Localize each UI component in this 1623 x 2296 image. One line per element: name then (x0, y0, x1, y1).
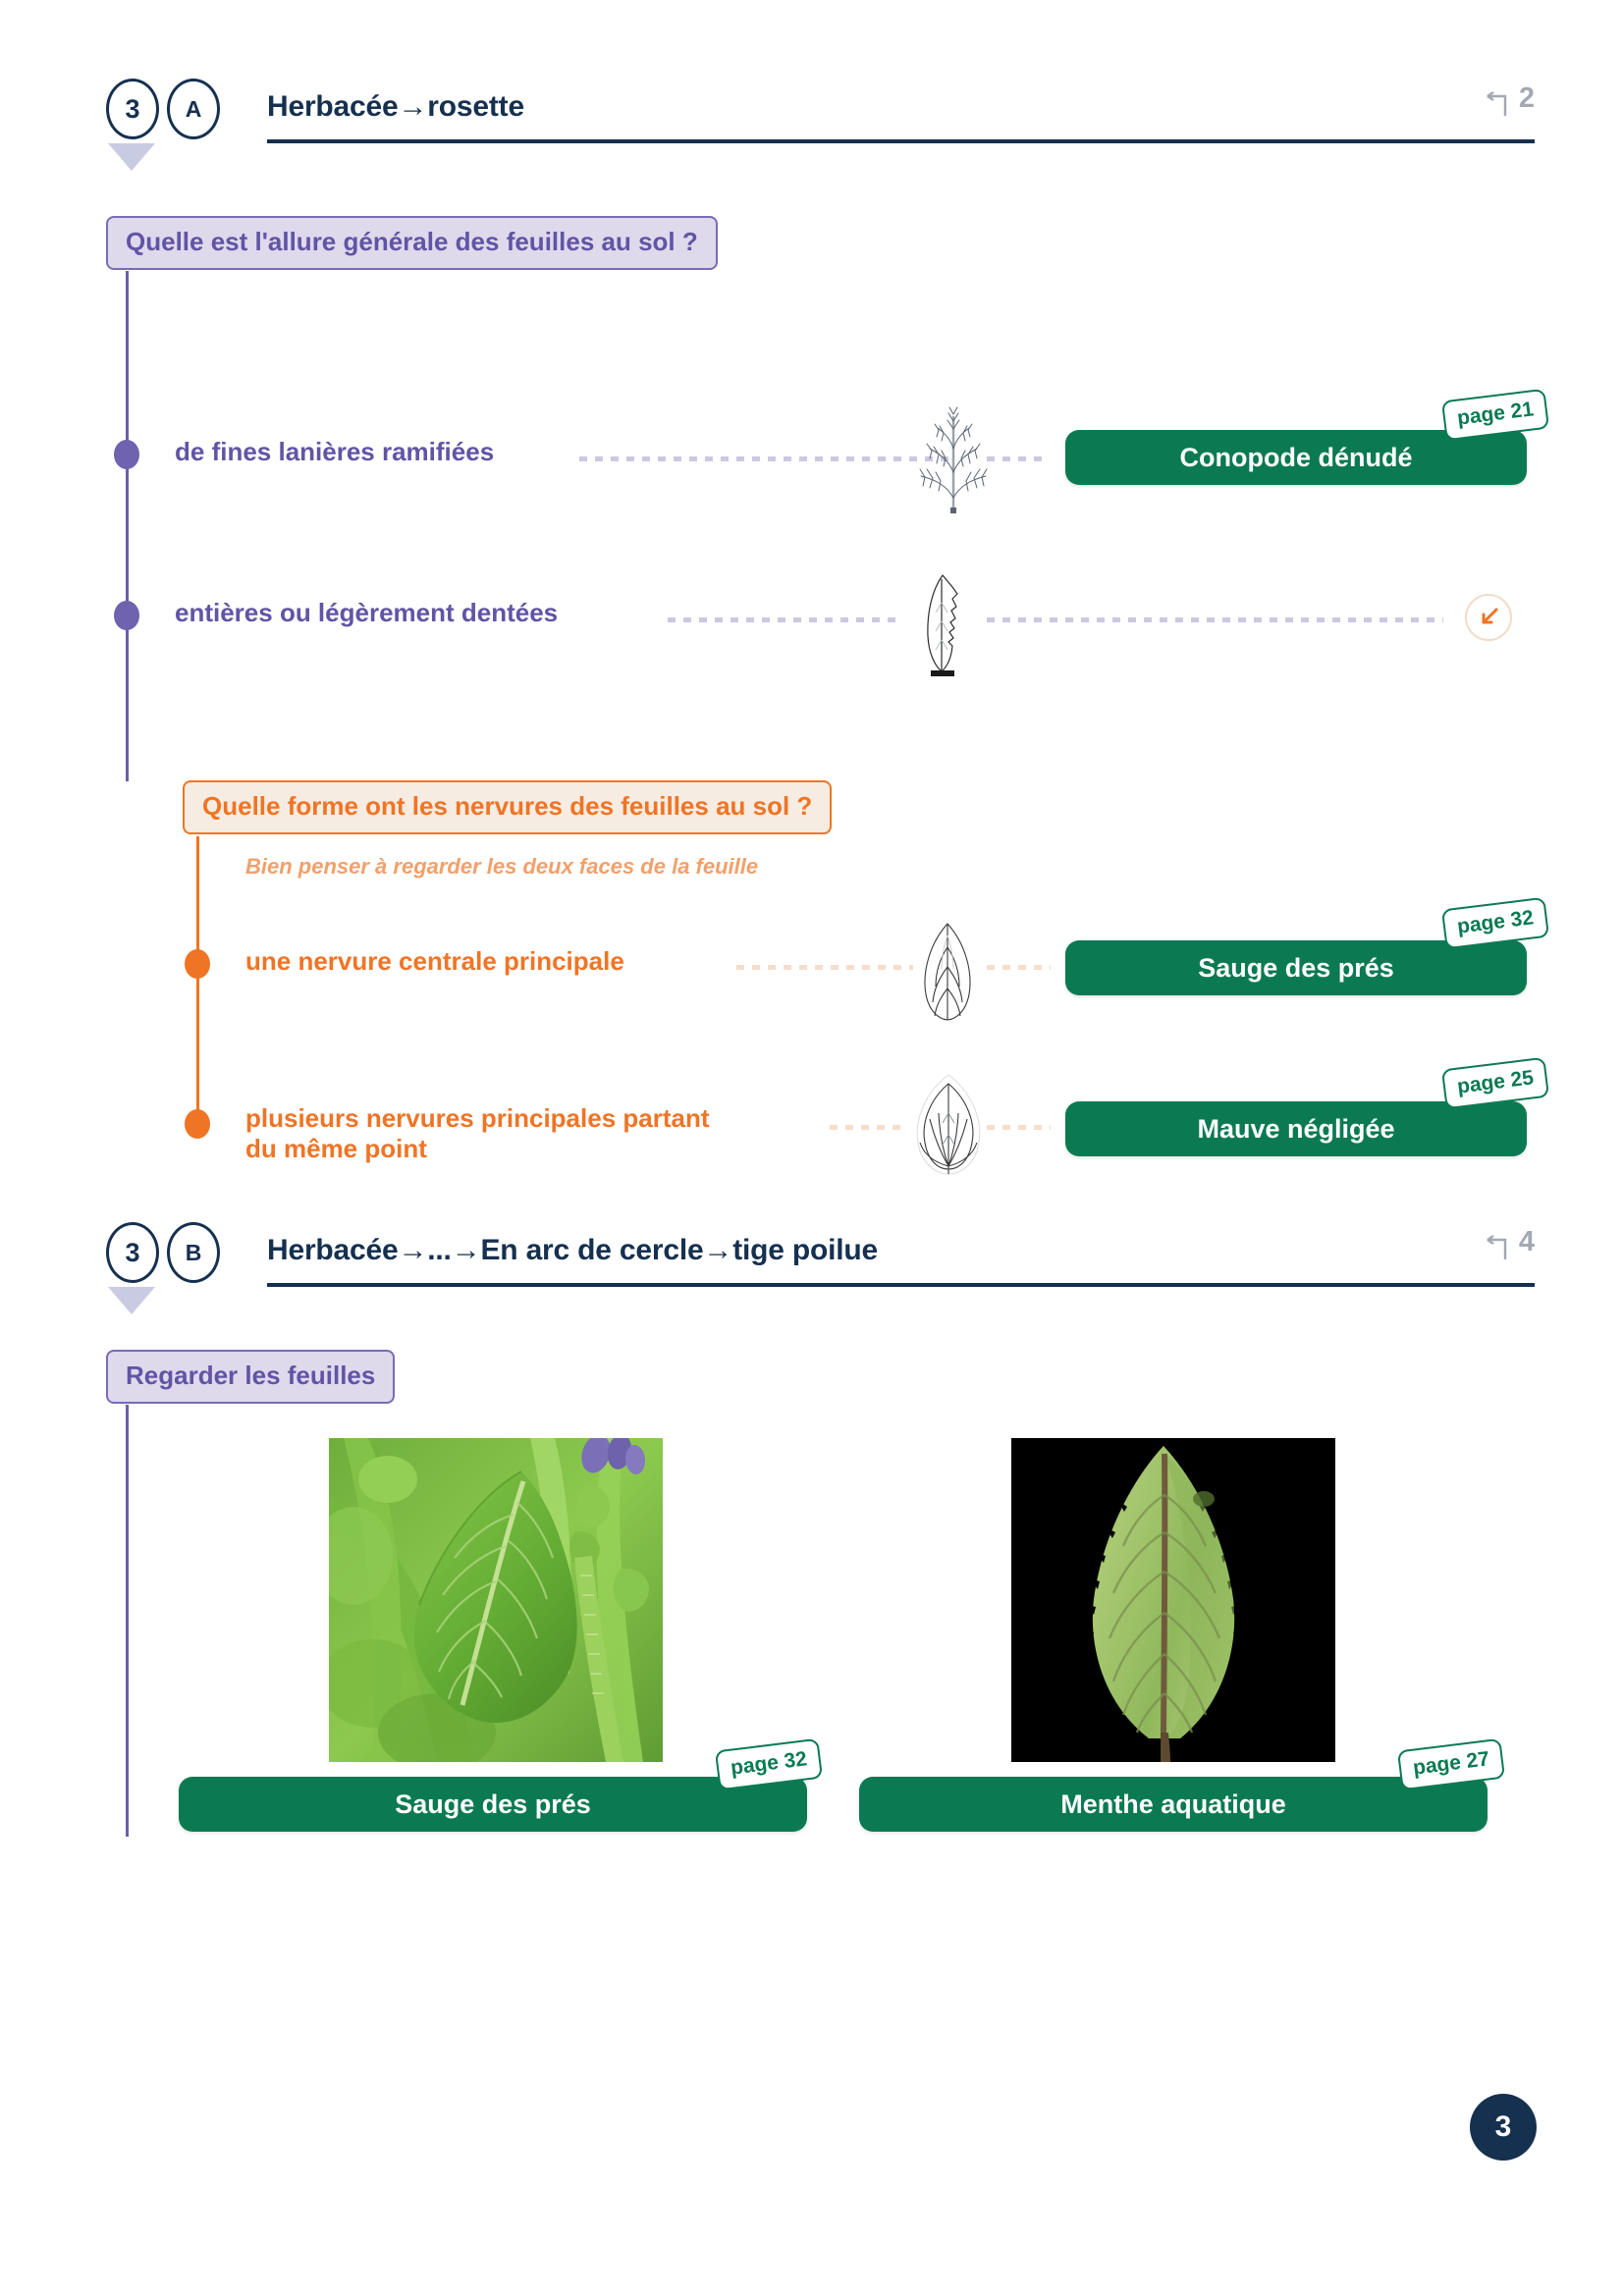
branch-spine-orange (196, 836, 199, 1121)
species-button[interactable]: Sauge des prés (1065, 940, 1527, 995)
leader-dots (579, 456, 952, 461)
answer-bullet[interactable] (185, 1109, 210, 1139)
palmate-vein-leaf-icon (908, 1070, 989, 1185)
answer-label-line1: plusieurs nervures principales partant (245, 1103, 710, 1134)
question-box-vein-shape: Quelle forme ont les nervures des feuill… (183, 780, 832, 834)
back-arrow-icon (1484, 90, 1513, 120)
species-label: Sauge des prés (395, 1789, 591, 1820)
section-number-badge: 3 (106, 79, 159, 139)
section-3a-header: 3 A Herbacée→rosette 2 (106, 79, 1535, 155)
section-3b-header: 3 B Herbacée→...→En arc de cercle→tige p… (106, 1222, 1535, 1299)
section-back-reference[interactable]: 4 (1484, 1228, 1535, 1263)
section-drop-arrow-icon (108, 1287, 155, 1314)
page-number-badge: 3 (1470, 2094, 1537, 2161)
section-letter-badge: B (167, 1222, 220, 1283)
pinnate-vein-leaf-icon (908, 918, 987, 1031)
answer-label: entières ou légèrement dentées (175, 598, 558, 628)
hint-text: Bien penser à regarder les deux faces de… (245, 854, 758, 880)
sauge-des-pres-leaf-photo (329, 1438, 663, 1762)
leader-dots (987, 1125, 1051, 1130)
leader-dots (830, 1125, 903, 1130)
section-3b: 3 B Herbacée→...→En arc de cercle→tige p… (0, 1222, 1623, 1299)
branch-spine-purple (126, 271, 129, 781)
leader-dots (987, 456, 1046, 461)
question-box-leaf-appearance: Quelle est l'allure générale des feuille… (106, 216, 718, 270)
page-tag[interactable]: page 21 (1441, 389, 1549, 442)
species-label: Mauve négligée (1197, 1114, 1394, 1145)
back-reference-number: 2 (1519, 84, 1535, 113)
branch-spine-purple (126, 1405, 129, 1837)
section-rule (267, 139, 1535, 143)
page-tag[interactable]: page 32 (715, 1738, 823, 1791)
leader-dots (987, 617, 1443, 622)
answer-label: de fines lanières ramifiées (175, 437, 494, 467)
page-tag[interactable]: page 25 (1441, 1057, 1549, 1110)
section-drop-arrow-icon (108, 143, 155, 171)
continue-down-circle[interactable] (1465, 594, 1512, 641)
species-button[interactable]: Mauve négligée (1065, 1101, 1527, 1156)
leader-dots (736, 965, 913, 970)
answer-label-line2: du même point (245, 1134, 710, 1164)
species-button[interactable]: Menthe aquatique (859, 1777, 1488, 1832)
branched-rosette-icon (911, 400, 996, 522)
answer-label: plusieurs nervures principales partant d… (245, 1103, 710, 1163)
back-arrow-icon (1484, 1234, 1513, 1263)
species-button[interactable]: Sauge des prés (179, 1777, 807, 1832)
section-back-reference[interactable]: 2 (1484, 84, 1535, 120)
answer-label: une nervure centrale principale (245, 946, 624, 977)
answer-bullet[interactable] (114, 601, 139, 630)
section-rule (267, 1283, 1535, 1287)
section-3a: 3 A Herbacée→rosette 2 Quelle est l'allu… (0, 79, 1623, 155)
section-number-badge: 3 (106, 1222, 159, 1283)
arrow-down-left-icon (1476, 605, 1501, 630)
answer-bullet[interactable] (114, 440, 139, 469)
section-title: Herbacée→rosette (267, 90, 524, 124)
species-label: Sauge des prés (1198, 953, 1394, 984)
toothed-narrow-leaf-icon (903, 567, 982, 688)
leader-dots (987, 965, 1051, 970)
page-tag[interactable]: page 32 (1441, 897, 1549, 950)
back-reference-number: 4 (1519, 1228, 1535, 1256)
answer-bullet[interactable] (185, 949, 210, 979)
section-letter-badge: A (167, 79, 220, 139)
question-box-look-at-leaves: Regarder les feuilles (106, 1350, 395, 1404)
page-tag[interactable]: page 27 (1397, 1738, 1505, 1791)
section-title: Herbacée→...→En arc de cercle→tige poilu… (267, 1234, 878, 1267)
leader-dots (668, 617, 903, 622)
species-label: Conopode dénudé (1180, 443, 1413, 473)
menthe-aquatique-leaf-photo (1011, 1438, 1335, 1762)
species-label: Menthe aquatique (1060, 1789, 1286, 1820)
